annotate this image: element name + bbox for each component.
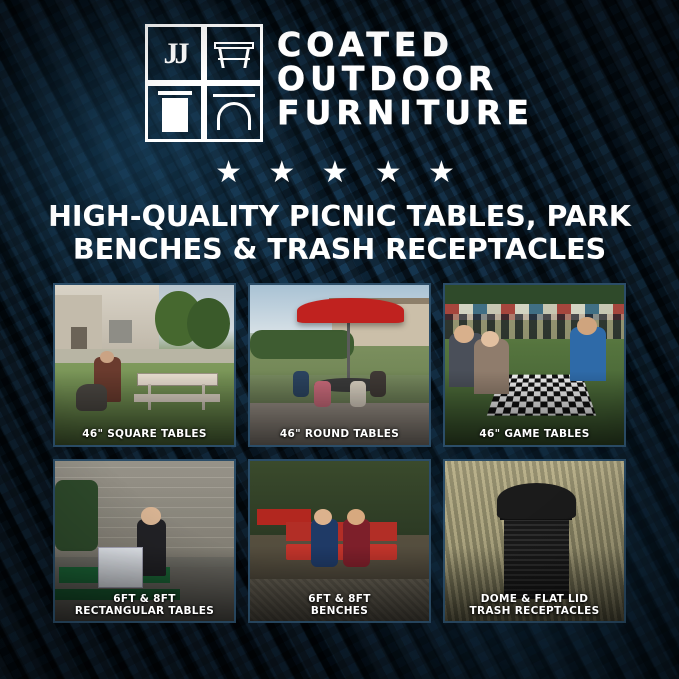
product-caption-line-2: RECTANGULAR TABLES	[57, 605, 232, 617]
product-caption-line-2: TRASH RECEPTACLES	[447, 605, 622, 617]
logo-quadrant-bottom-right	[204, 83, 263, 142]
table-arch-icon	[217, 102, 251, 130]
logo-wordmark: COATED OUTDOOR FURNITURE	[277, 24, 534, 130]
monogram-jj-icon: JJ	[164, 37, 186, 71]
picnic-bench-icon	[214, 42, 254, 68]
logo-quadrant-bottom-left	[145, 83, 204, 142]
product-caption-line-1: DOME & FLAT LID	[447, 593, 622, 605]
product-card-benches[interactable]: 6FT & 8FT BENCHES	[248, 459, 431, 623]
product-caption: 46" SQUARE TABLES	[55, 428, 234, 440]
headline-line-1: HIGH-QUALITY PICNIC TABLES, PARK	[30, 200, 649, 233]
poster-content: JJ	[0, 0, 679, 679]
trash-receptacle-icon	[162, 98, 188, 132]
product-caption: 46" GAME TABLES	[445, 428, 624, 440]
rating-stars: ★ ★ ★ ★ ★	[0, 158, 679, 188]
product-caption-line-2: BENCHES	[252, 605, 427, 617]
product-card-square-tables[interactable]: 46" SQUARE TABLES	[53, 283, 236, 447]
product-caption: 46" ROUND TABLES	[250, 428, 429, 440]
product-caption-line-1: 6FT & 8FT	[252, 593, 427, 605]
product-caption: 6FT & 8FT RECTANGULAR TABLES	[55, 593, 234, 617]
product-card-trash-receptacles[interactable]: DOME & FLAT LID TRASH RECEPTACLES	[443, 459, 626, 623]
logo-mark: JJ	[145, 24, 263, 142]
product-card-game-tables[interactable]: 46" GAME TABLES	[443, 283, 626, 447]
logo-word-1: COATED	[277, 28, 534, 62]
headline-line-2: BENCHES & TRASH RECEPTACLES	[30, 233, 649, 266]
product-card-round-tables[interactable]: 46" ROUND TABLES	[248, 283, 431, 447]
product-card-rectangular-tables[interactable]: 6FT & 8FT RECTANGULAR TABLES	[53, 459, 236, 623]
logo-word-3: FURNITURE	[277, 96, 534, 130]
brand-logo: JJ	[0, 24, 679, 142]
logo-word-2: OUTDOOR	[277, 62, 534, 96]
product-caption: 6FT & 8FT BENCHES	[250, 593, 429, 617]
logo-quadrant-top-left: JJ	[145, 24, 204, 83]
page-title: HIGH-QUALITY PICNIC TABLES, PARK BENCHES…	[30, 200, 649, 266]
product-poster: JJ	[0, 0, 679, 679]
product-grid: 46" SQUARE TABLES 46" ROUND TABLES	[53, 283, 626, 623]
product-caption-line-1: 6FT & 8FT	[57, 593, 232, 605]
logo-quadrant-top-right	[204, 24, 263, 83]
product-caption: DOME & FLAT LID TRASH RECEPTACLES	[445, 593, 624, 617]
